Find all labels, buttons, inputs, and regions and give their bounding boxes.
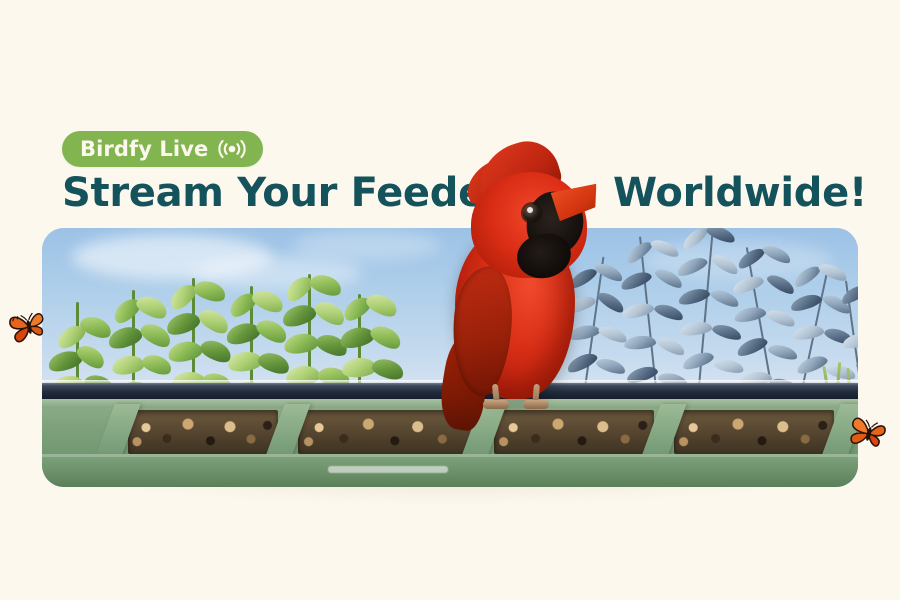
feeder-tray-slot [328, 466, 448, 473]
northern-cardinal-bird [425, 138, 610, 423]
butterfly-left-icon [4, 301, 54, 351]
headline-part-2: Worldwide! [613, 170, 867, 216]
seed-well [128, 410, 278, 454]
live-badge[interactable]: Birdfy Live [62, 131, 263, 167]
live-broadcast-icon [217, 138, 247, 160]
live-badge-label: Birdfy Live [80, 139, 208, 160]
feeder-tray-front [42, 454, 858, 487]
hero-banner: Birdfy Live Stream Your Feeder Worldwide… [0, 0, 900, 600]
seed-well [674, 410, 834, 454]
